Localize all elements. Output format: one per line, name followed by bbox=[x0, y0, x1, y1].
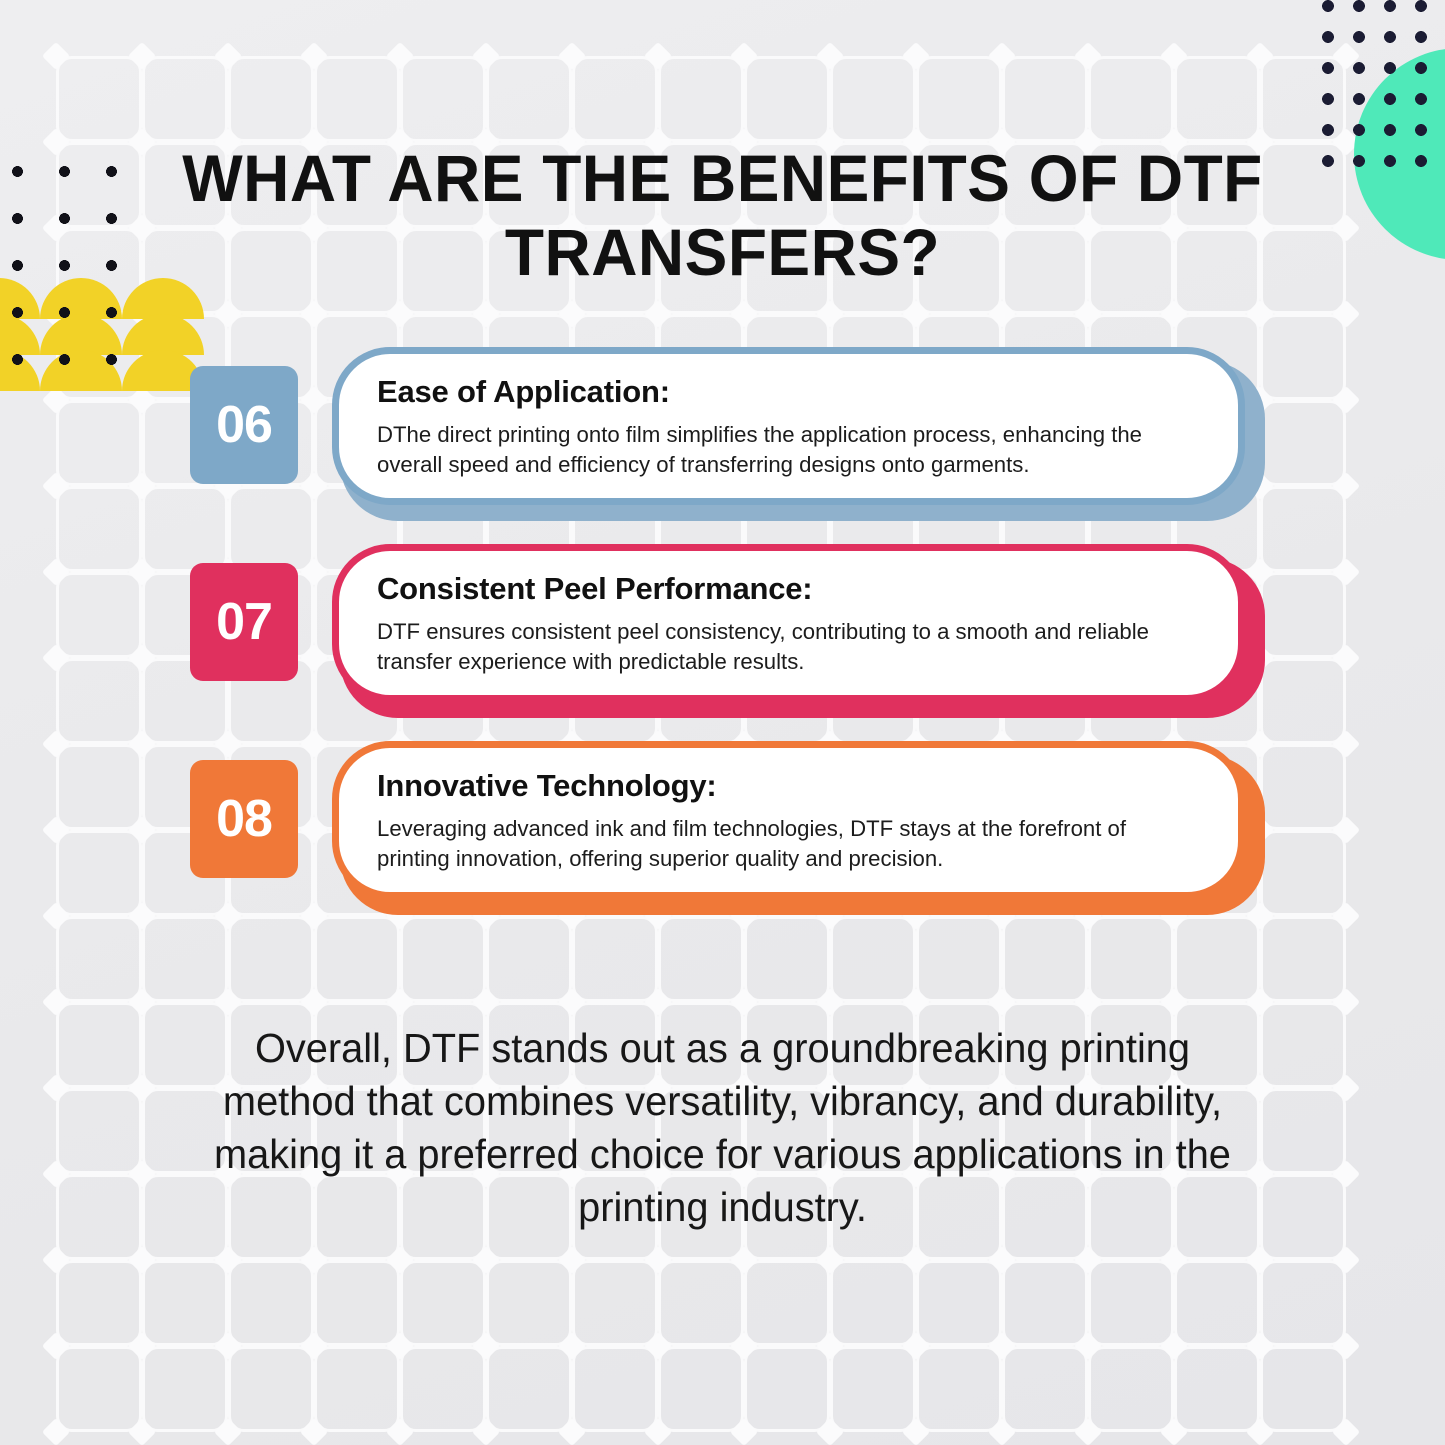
background-grid-cell bbox=[1088, 1346, 1174, 1432]
background-grid-cell bbox=[1260, 744, 1346, 830]
background-grid-cell bbox=[1260, 1174, 1346, 1260]
card-body-text: Leveraging advanced ink and film technol… bbox=[377, 814, 1192, 874]
background-grid-cell bbox=[744, 1346, 830, 1432]
card-number-badge: 07 bbox=[190, 563, 298, 681]
background-grid-cell bbox=[142, 56, 228, 142]
benefit-card: 07Consistent Peel Performance:DTF ensure… bbox=[190, 541, 1265, 705]
dot-grid-icon-left bbox=[12, 166, 120, 378]
background-grid-cell bbox=[1260, 572, 1346, 658]
background-grid-cell bbox=[314, 916, 400, 1002]
background-grid-cell bbox=[830, 1260, 916, 1346]
background-grid-cell bbox=[1260, 314, 1346, 400]
card-number-badge: 08 bbox=[190, 760, 298, 878]
background-grid-cell bbox=[400, 1346, 486, 1432]
background-grid-cell bbox=[658, 1346, 744, 1432]
background-grid-cell bbox=[572, 916, 658, 1002]
background-grid-cell bbox=[486, 916, 572, 1002]
background-grid-cell bbox=[572, 56, 658, 142]
card-bubble: Ease of Application:DThe direct printing… bbox=[332, 347, 1245, 505]
background-grid-cell bbox=[314, 1346, 400, 1432]
background-grid-cell bbox=[1260, 830, 1346, 916]
background-grid-cell bbox=[142, 916, 228, 1002]
background-grid-cell bbox=[916, 916, 1002, 1002]
background-grid-cell bbox=[1174, 916, 1260, 1002]
background-grid-cell bbox=[1260, 1260, 1346, 1346]
background-grid-cell bbox=[1174, 56, 1260, 142]
background-grid-cell bbox=[314, 56, 400, 142]
background-grid-cell bbox=[56, 1346, 142, 1432]
background-grid-cell bbox=[1174, 1346, 1260, 1432]
background-grid-cell bbox=[56, 916, 142, 1002]
background-grid-cell bbox=[228, 56, 314, 142]
page-title: WHAT ARE THE BENEFITS OF DTF TRANSFERS? bbox=[167, 142, 1278, 290]
background-grid-cell bbox=[142, 1260, 228, 1346]
card-body-text: DThe direct printing onto film simplifie… bbox=[377, 420, 1192, 480]
background-grid-cell bbox=[830, 916, 916, 1002]
benefit-card: 08Innovative Technology:Leveraging advan… bbox=[190, 738, 1265, 902]
background-grid-cell bbox=[400, 1260, 486, 1346]
background-grid-cell bbox=[486, 56, 572, 142]
card-number-badge: 06 bbox=[190, 366, 298, 484]
card-number-label: 08 bbox=[216, 789, 272, 849]
background-grid-cell bbox=[56, 1260, 142, 1346]
background-grid-cell bbox=[56, 1174, 142, 1260]
background-grid-cell bbox=[314, 1260, 400, 1346]
background-grid-cell bbox=[1002, 1346, 1088, 1432]
background-grid-cell bbox=[1002, 916, 1088, 1002]
background-grid-cell bbox=[56, 658, 142, 744]
background-grid-cell bbox=[400, 56, 486, 142]
background-grid-cell bbox=[142, 1346, 228, 1432]
background-grid-cell bbox=[658, 916, 744, 1002]
background-grid-cell bbox=[1088, 916, 1174, 1002]
card-title: Consistent Peel Performance: bbox=[377, 571, 1204, 607]
background-grid-cell bbox=[916, 56, 1002, 142]
background-grid-cell bbox=[1260, 1088, 1346, 1174]
card-body-text: DTF ensures consistent peel consistency,… bbox=[377, 617, 1192, 677]
background-grid-cell bbox=[228, 916, 314, 1002]
background-grid-cell bbox=[56, 572, 142, 658]
background-grid-cell bbox=[1002, 56, 1088, 142]
background-grid-cell bbox=[56, 1088, 142, 1174]
background-grid-cell bbox=[400, 916, 486, 1002]
background-grid-cell bbox=[744, 56, 830, 142]
background-grid-cell bbox=[830, 56, 916, 142]
card-number-label: 07 bbox=[216, 592, 272, 652]
background-grid-cell bbox=[1174, 1260, 1260, 1346]
background-grid-cell bbox=[1260, 1002, 1346, 1088]
background-grid-cell bbox=[572, 1260, 658, 1346]
card-title: Innovative Technology: bbox=[377, 768, 1204, 804]
background-grid-cell bbox=[572, 1346, 658, 1432]
background-grid-cell bbox=[916, 1260, 1002, 1346]
background-grid-cell bbox=[658, 56, 744, 142]
background-grid-cell bbox=[56, 486, 142, 572]
background-grid-cell bbox=[56, 830, 142, 916]
background-grid-cell bbox=[56, 1002, 142, 1088]
background-grid-cell bbox=[56, 400, 142, 486]
background-grid-cell bbox=[56, 56, 142, 142]
card-bubble: Innovative Technology:Leveraging advance… bbox=[332, 741, 1245, 899]
background-grid-cell bbox=[1002, 1260, 1088, 1346]
background-grid-cell bbox=[228, 1346, 314, 1432]
background-grid-cell bbox=[1088, 56, 1174, 142]
dot-grid-icon-topright bbox=[1322, 0, 1445, 170]
background-grid-cell bbox=[1260, 1346, 1346, 1432]
background-grid-cell bbox=[1260, 486, 1346, 572]
background-grid-cell bbox=[1088, 1260, 1174, 1346]
background-grid-cell bbox=[658, 1260, 744, 1346]
background-grid-cell bbox=[486, 1346, 572, 1432]
background-grid-cell bbox=[744, 1260, 830, 1346]
background-grid-cell bbox=[1260, 400, 1346, 486]
background-grid-cell bbox=[1260, 658, 1346, 744]
card-bubble: Consistent Peel Performance:DTF ensures … bbox=[332, 544, 1245, 702]
background-grid-cell bbox=[1260, 916, 1346, 1002]
background-grid-cell bbox=[56, 744, 142, 830]
background-grid-cell bbox=[916, 1346, 1002, 1432]
background-grid-cell bbox=[228, 1260, 314, 1346]
background-grid-cell bbox=[830, 1346, 916, 1432]
card-number-label: 06 bbox=[216, 395, 272, 455]
background-grid-cell bbox=[744, 916, 830, 1002]
card-title: Ease of Application: bbox=[377, 374, 1204, 410]
background-grid-cell bbox=[486, 1260, 572, 1346]
benefit-card: 06Ease of Application:DThe direct printi… bbox=[190, 344, 1265, 508]
summary-paragraph: Overall, DTF stands out as a groundbreak… bbox=[191, 1022, 1253, 1234]
infographic-canvas: WHAT ARE THE BENEFITS OF DTF TRANSFERS? … bbox=[0, 0, 1445, 1445]
